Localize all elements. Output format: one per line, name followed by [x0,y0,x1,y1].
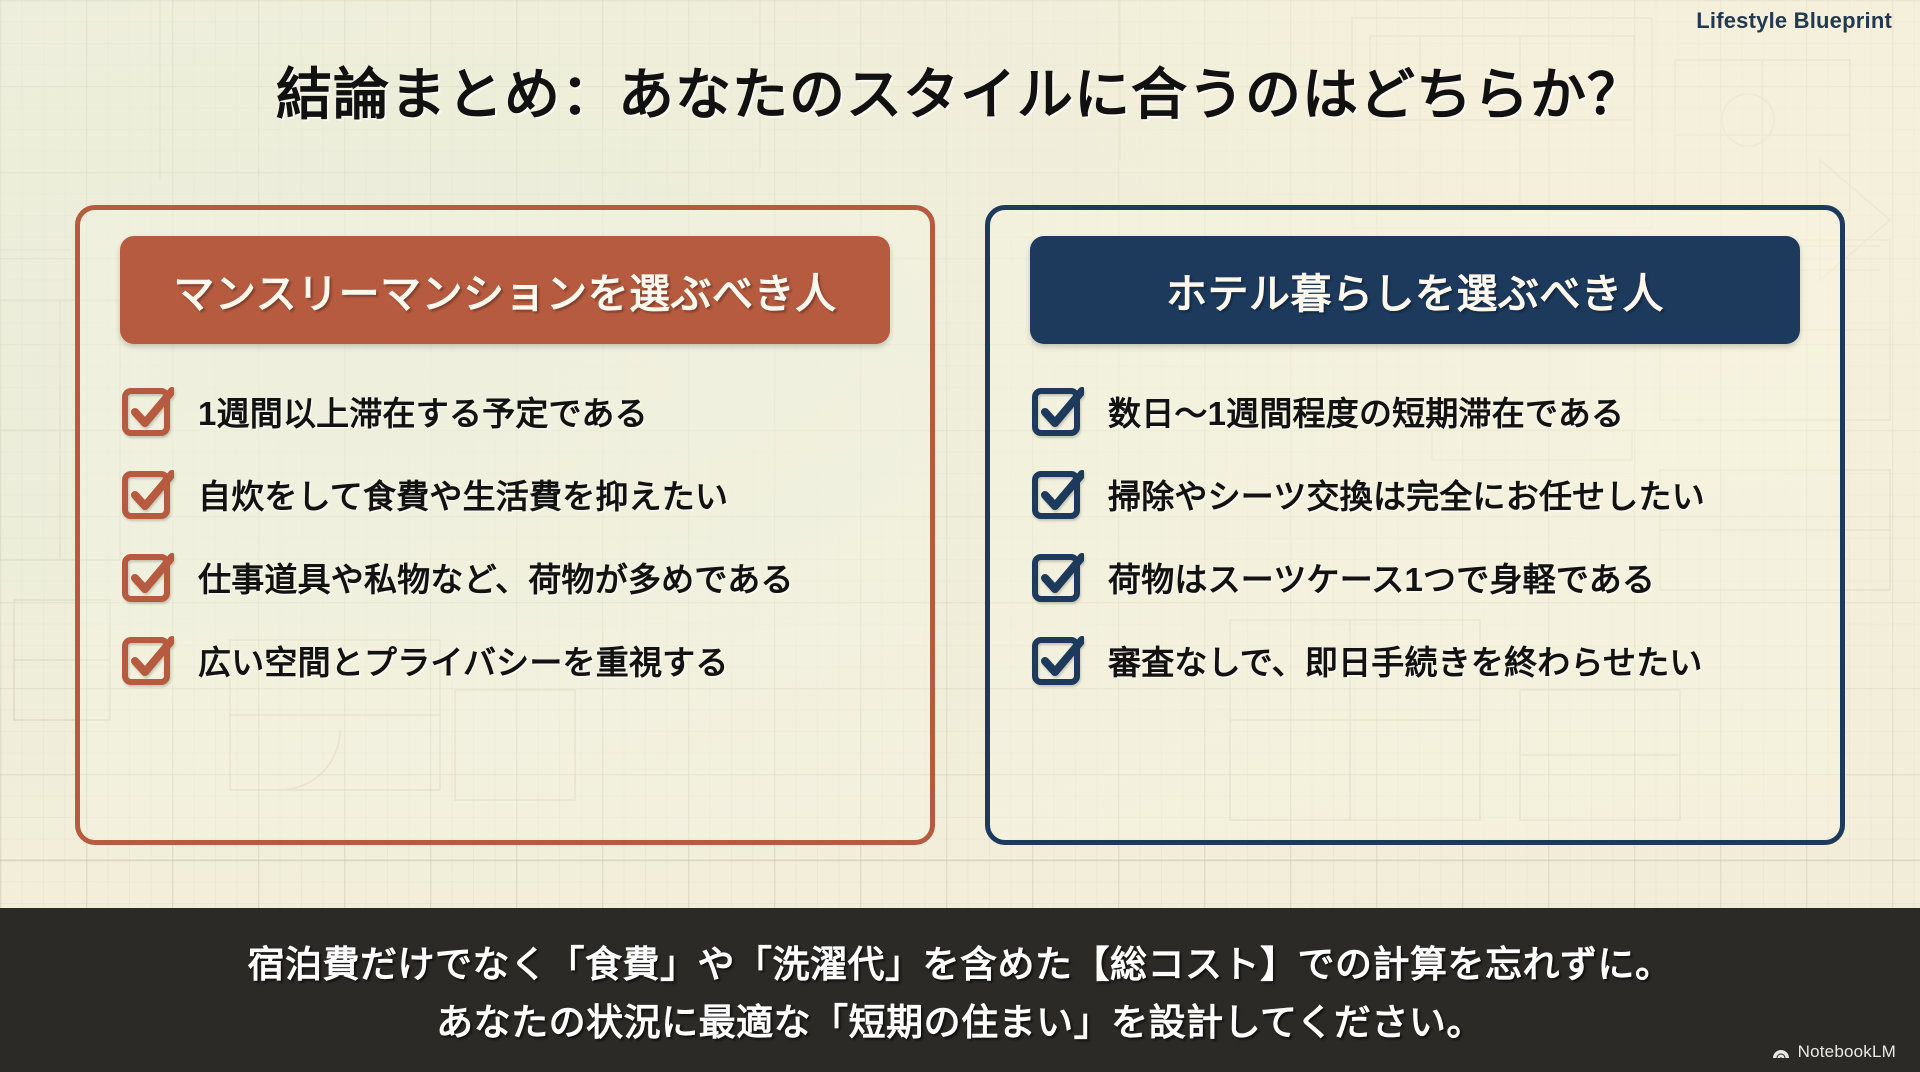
notebooklm-logo-text: NotebookLM [1798,1042,1896,1062]
list-item-label: 数日〜1週間程度の短期滞在である [1108,387,1624,435]
list-item[interactable]: 広い空間とプライバシーを重視する [122,634,898,686]
checkbox-checked-icon[interactable] [1032,634,1084,686]
banner-line-1: 宿泊費だけでなく「食費」や「洗濯代」を含めた【総コスト】での計算を忘れずに。 [248,934,1673,988]
list-item-label: 1週間以上滞在する予定である [198,387,648,435]
checkbox-checked-icon[interactable] [122,634,174,686]
list-item[interactable]: 荷物はスーツケース1つで身軽である [1032,551,1808,603]
summary-banner: 宿泊費だけでなく「食費」や「洗濯代」を含めた【総コスト】での計算を忘れずに。 あ… [0,908,1920,1072]
checkbox-checked-icon[interactable] [1032,468,1084,520]
list-item-label: 仕事道具や私物など、荷物が多めである [198,553,794,601]
card-header-hotel-living: ホテル暮らしを選ぶべき人 [1030,236,1800,344]
list-item-label: 荷物はスーツケース1つで身軽である [1108,553,1655,601]
checklist-monthly-apartment: 1週間以上滞在する予定である 自炊をして食費や生活費を抑えたい [122,385,898,686]
list-item[interactable]: 掃除やシーツ交換は完全にお任せしたい [1032,468,1808,520]
checkbox-checked-icon[interactable] [122,468,174,520]
card-header-label: マンスリーマンションを選ぶべき人 [173,260,836,320]
checkbox-checked-icon[interactable] [1032,551,1084,603]
card-header-label: ホテル暮らしを選ぶべき人 [1166,260,1664,320]
checkbox-checked-icon[interactable] [122,551,174,603]
list-item[interactable]: 自炊をして食費や生活費を抑えたい [122,468,898,520]
checkbox-checked-icon[interactable] [122,385,174,437]
list-item[interactable]: 審査なしで、即日手続きを終わらせたい [1032,634,1808,686]
page-title: 結論まとめ：あなたのスタイルに合うのはどちらか？ [0,50,1920,131]
list-item[interactable]: 仕事道具や私物など、荷物が多めである [122,551,898,603]
list-item-label: 掃除やシーツ交換は完全にお任せしたい [1108,470,1705,518]
card-header-monthly-apartment: マンスリーマンションを選ぶべき人 [120,236,890,344]
banner-line-2: あなたの状況に最適な「短期の住まい」を設計してください。 [436,992,1484,1046]
list-item-label: 広い空間とプライバシーを重視する [198,636,729,684]
card-hotel-living: ホテル暮らしを選ぶべき人 数日〜1週間程度の短期滞在である [985,205,1845,845]
list-item-label: 審査なしで、即日手続きを終わらせたい [1108,636,1703,684]
comparison-cards: マンスリーマンションを選ぶべき人 1週間以上滞在する予定である [0,205,1920,855]
notebooklm-spiral-icon [1771,1044,1791,1060]
checkbox-checked-icon[interactable] [1032,385,1084,437]
list-item[interactable]: 1週間以上滞在する予定である [122,385,898,437]
list-item[interactable]: 数日〜1週間程度の短期滞在である [1032,385,1808,437]
checklist-hotel-living: 数日〜1週間程度の短期滞在である 掃除やシーツ交換は完全にお任せしたい [1032,385,1808,686]
slide-canvas: Lifestyle Blueprint 結論まとめ：あなたのスタイルに合うのはど… [0,0,1920,1072]
brand-tag: Lifestyle Blueprint [1696,8,1892,34]
card-monthly-apartment: マンスリーマンションを選ぶべき人 1週間以上滞在する予定である [75,205,935,845]
list-item-label: 自炊をして食費や生活費を抑えたい [198,470,728,518]
notebooklm-logo: NotebookLM [1771,1042,1896,1062]
